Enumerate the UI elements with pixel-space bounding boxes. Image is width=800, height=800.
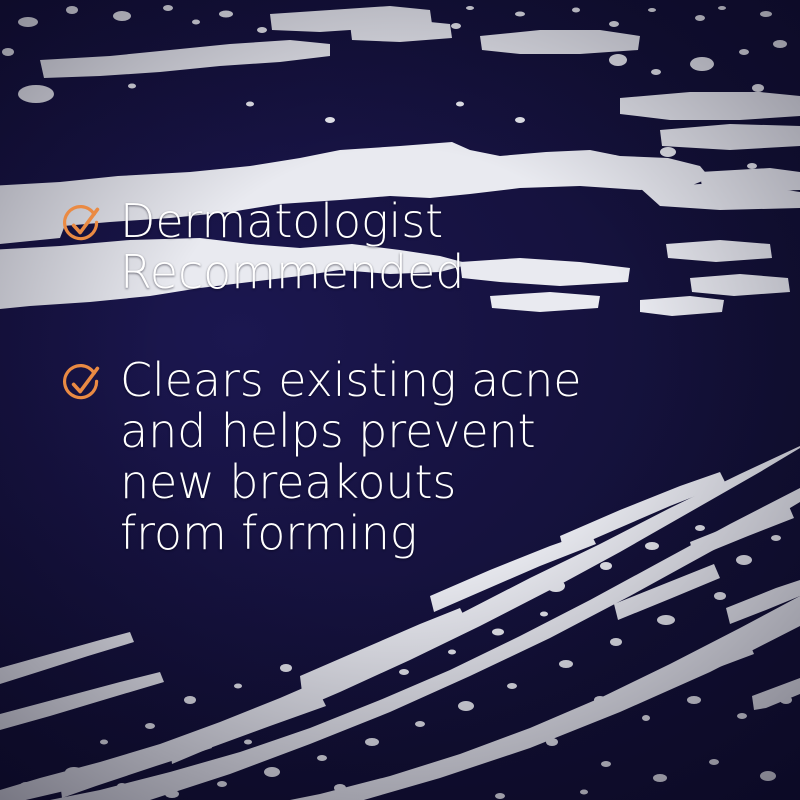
benefit-label: Clears existing acne and helps prevent n… [120, 355, 581, 560]
benefits-list: Dermatologist Recommended Clears existin… [62, 196, 652, 560]
check-circle-icon [62, 205, 102, 245]
benefit-item: Dermatologist Recommended [62, 196, 652, 299]
benefit-item: Clears existing acne and helps prevent n… [62, 355, 652, 560]
check-circle-icon [62, 364, 102, 404]
benefit-label: Dermatologist Recommended [120, 196, 464, 299]
product-benefits-card: Dermatologist Recommended Clears existin… [0, 0, 800, 800]
